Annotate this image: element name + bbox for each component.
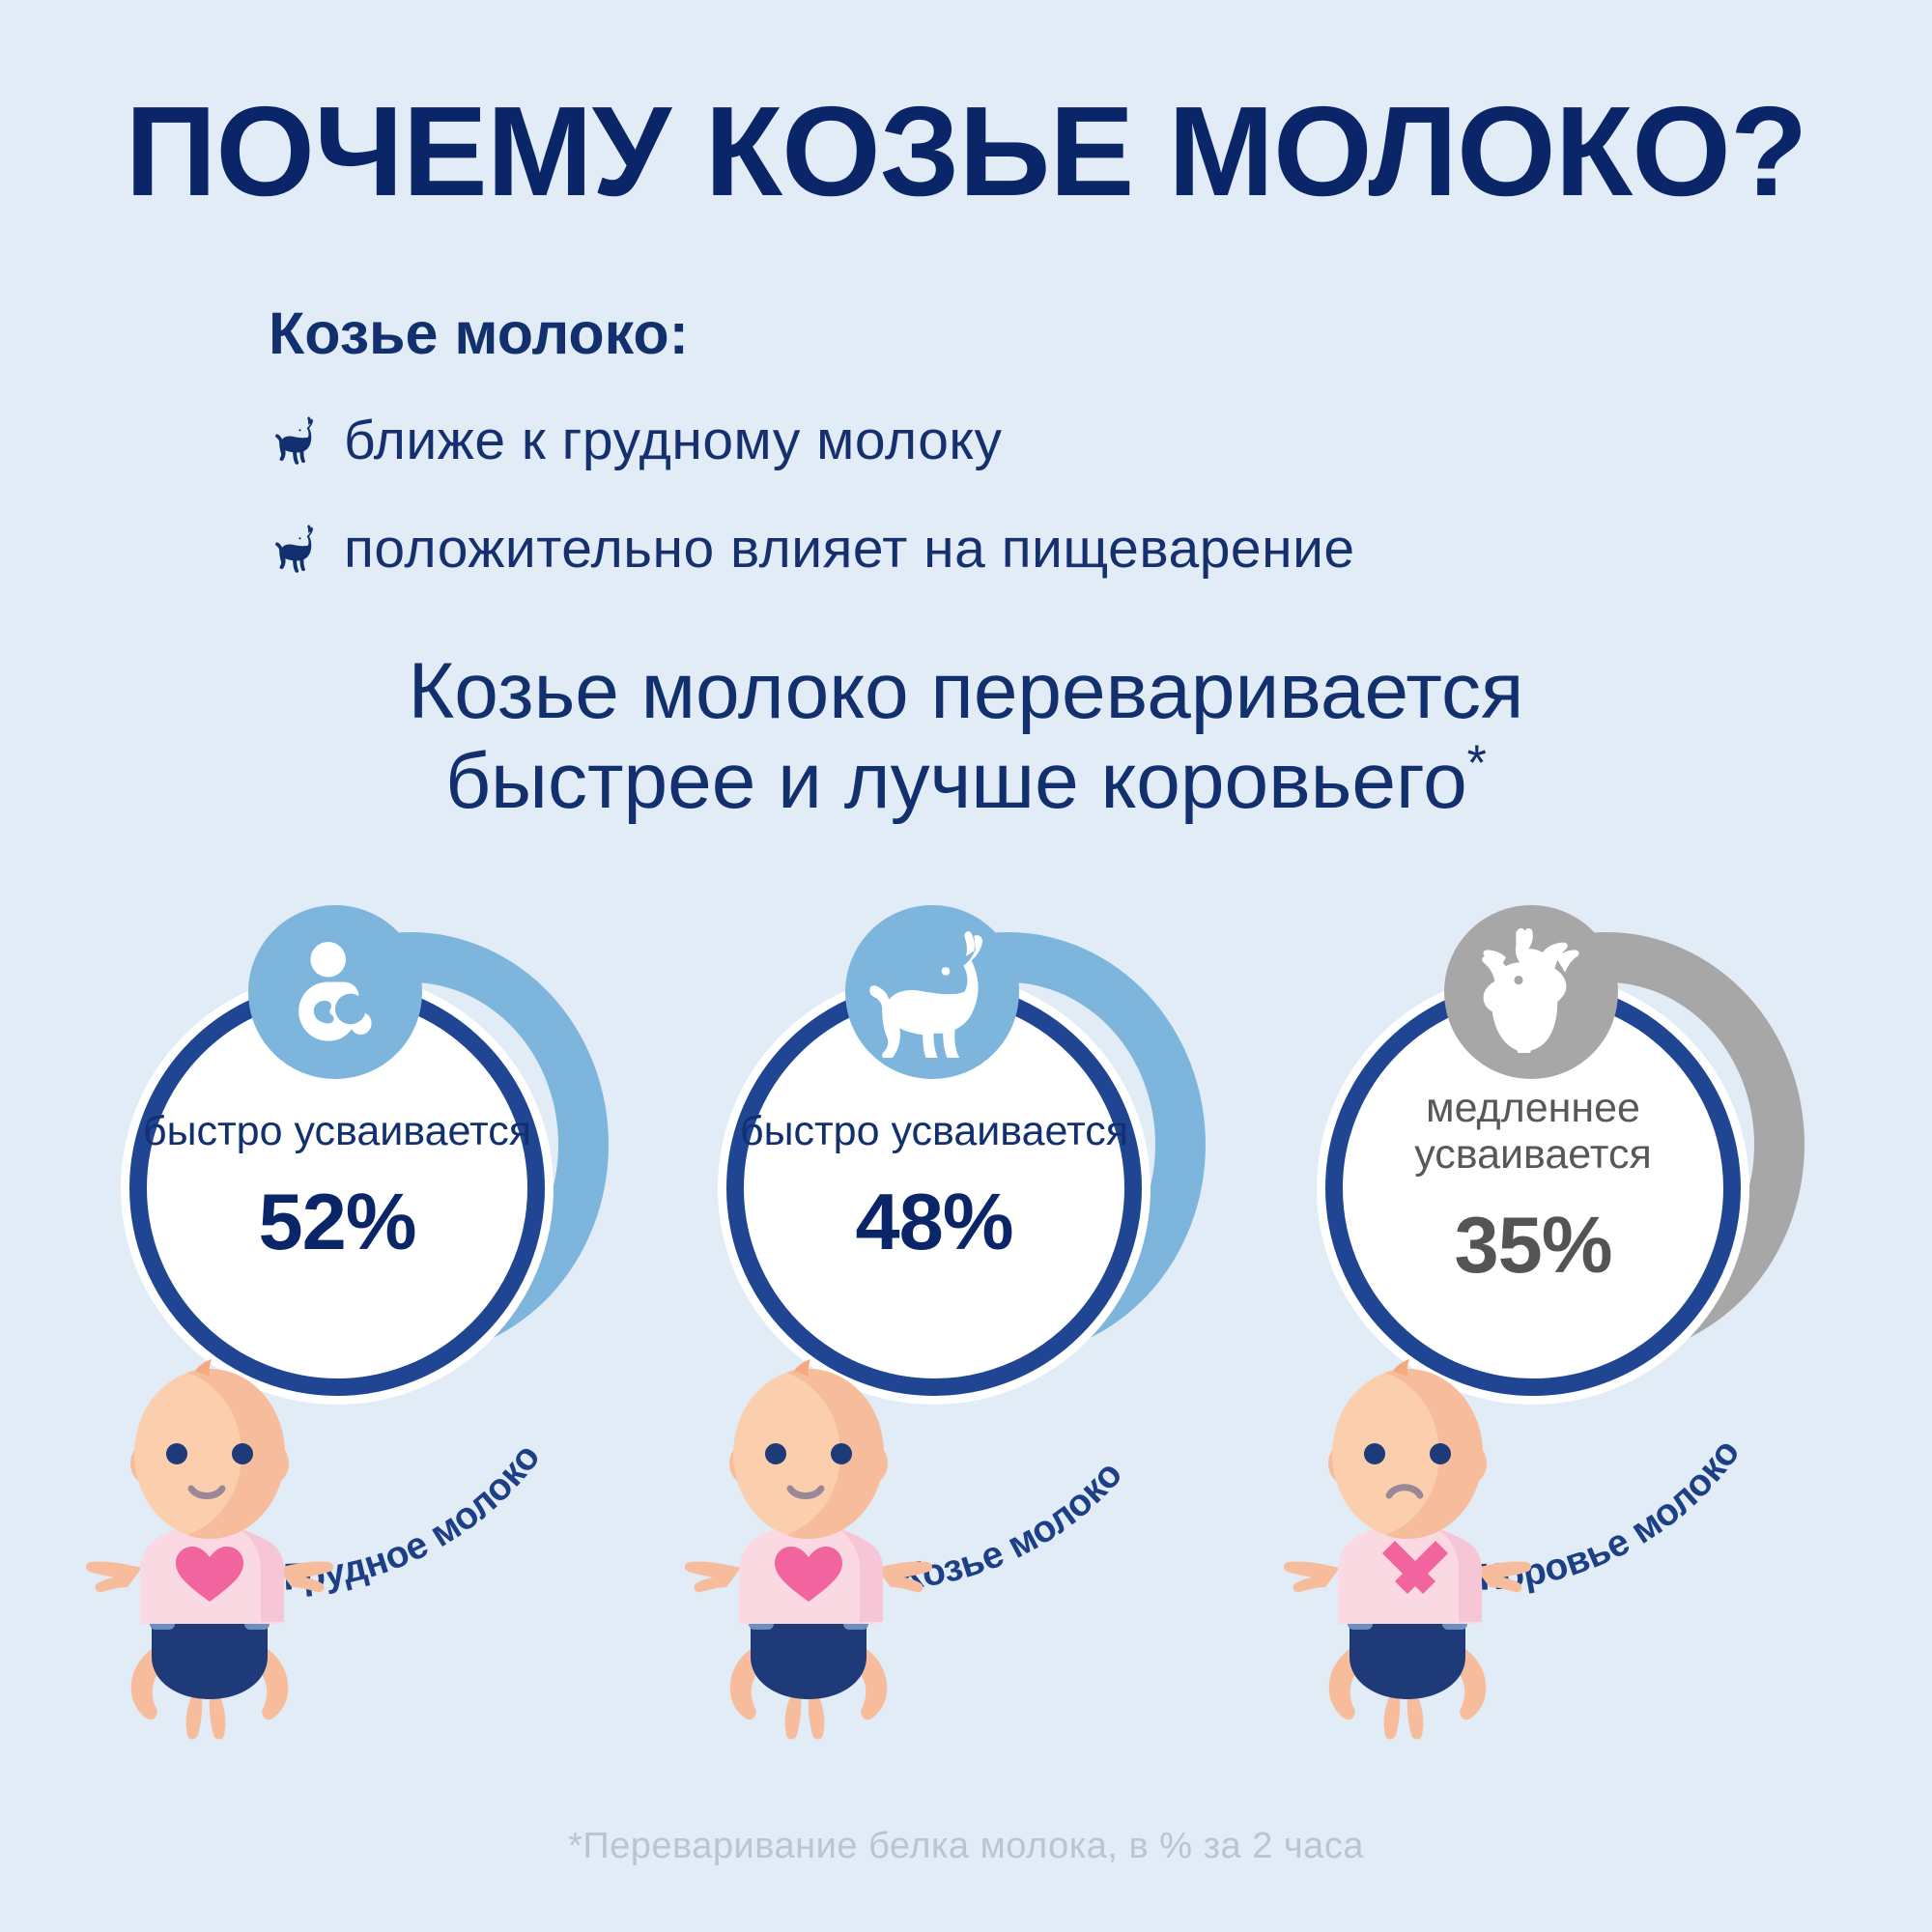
stat-label: быстро усваивается <box>143 1108 531 1154</box>
baby-illustration-happy <box>50 1357 369 1763</box>
badge-cow-milk <box>1444 905 1618 1079</box>
list-item-label: положительно влияет на пищеварение <box>344 517 1355 581</box>
headline-line-2-wrap: быстрее и лучше коровьего* <box>0 737 1932 827</box>
list-item-label: ближе к грудному молоку <box>344 409 1003 472</box>
headline-asterisk: * <box>1467 735 1487 791</box>
goat-icon <box>269 521 323 577</box>
infographic-canvas: ПОЧЕМУ КОЗЬЕ МОЛОКО? Козье молоко: ближе… <box>0 0 1932 1932</box>
list-item: положительно влияет на пищеварение <box>269 504 1718 593</box>
intro-subhead: Козье молоко: <box>269 299 689 367</box>
stat-label: медленнее усваивается <box>1325 1085 1741 1178</box>
intro-bullet-list: ближе к грудному молоку положительно вли… <box>269 396 1718 612</box>
stat-value: 48% <box>855 1176 1012 1268</box>
goat-icon <box>865 923 1000 1063</box>
stat-value: 52% <box>258 1176 415 1268</box>
footnote: *Переваривание белка молока, в % за 2 ча… <box>0 1826 1932 1867</box>
baby-illustration-happy <box>649 1357 968 1763</box>
badge-goat-milk <box>845 905 1019 1079</box>
list-item: ближе к грудному молоку <box>269 396 1718 485</box>
stat-value: 35% <box>1454 1199 1611 1292</box>
main-headline: Козье молоко переваривается быстрее и лу… <box>0 647 1932 826</box>
baby-illustration-sad <box>1248 1357 1567 1763</box>
page-title: ПОЧЕМУ КОЗЬЕ МОЛОКО? <box>0 85 1932 219</box>
headline-line-1: Козье молоко переваривается <box>0 647 1932 737</box>
headline-line-2: быстрее и лучше коровьего <box>445 737 1467 825</box>
cow-head-icon <box>1468 927 1594 1058</box>
stat-label: быстро усваивается <box>740 1108 1128 1154</box>
goat-icon <box>269 412 323 469</box>
badge-breast-milk <box>248 905 422 1079</box>
breastfeeding-icon <box>276 931 394 1054</box>
